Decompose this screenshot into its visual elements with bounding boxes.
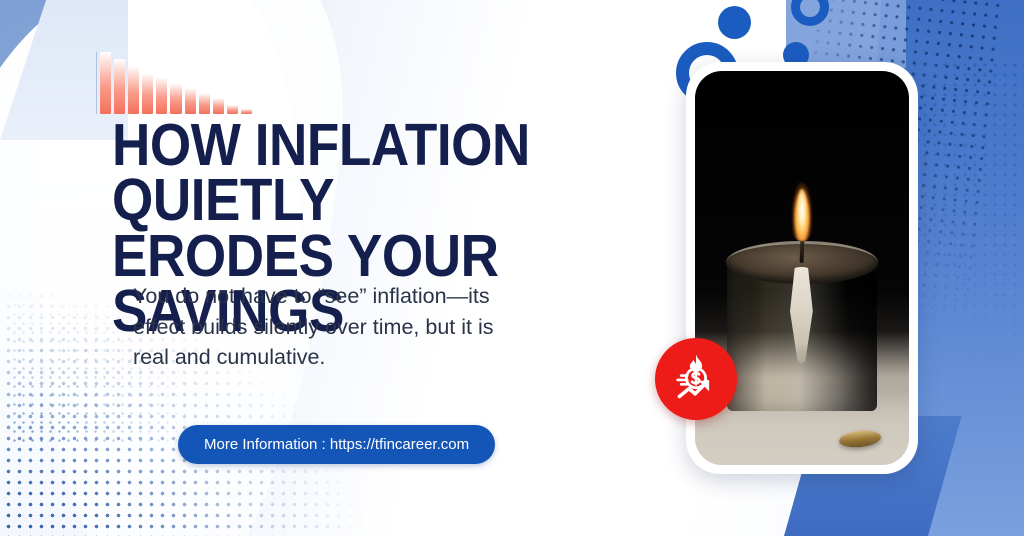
chart-bar: [114, 59, 125, 114]
chart-bar: [100, 52, 111, 114]
chart-bar: [199, 93, 210, 114]
more-information-button[interactable]: More Information : https://tfincareer.co…: [178, 425, 495, 464]
declining-bar-chart: [100, 52, 252, 114]
chart-bar: [156, 77, 167, 114]
photo-card: [686, 62, 918, 474]
candle-flame-core: [798, 189, 807, 225]
chart-bar: [170, 83, 181, 114]
candle-wick: [800, 239, 805, 263]
mini-chart-axis: [96, 52, 97, 114]
halftone-dots-right-edge: [910, 60, 1024, 390]
content-column: HOW INFLATION QUIETLY ERODES YOUR SAVING…: [0, 0, 660, 536]
candle-coins-photo: [695, 71, 909, 465]
inflation-flame-dollar-arrow-icon: [668, 351, 724, 407]
chart-bar: [128, 66, 139, 114]
chart-bar: [185, 88, 196, 114]
subtitle-text: You do not have to “see” inflation—its e…: [133, 281, 633, 373]
inflation-banner: HOW INFLATION QUIETLY ERODES YOUR SAVING…: [0, 0, 1024, 536]
inflation-badge: [655, 338, 737, 420]
dot-medium-icon: [718, 6, 751, 39]
chart-bar: [142, 73, 153, 114]
